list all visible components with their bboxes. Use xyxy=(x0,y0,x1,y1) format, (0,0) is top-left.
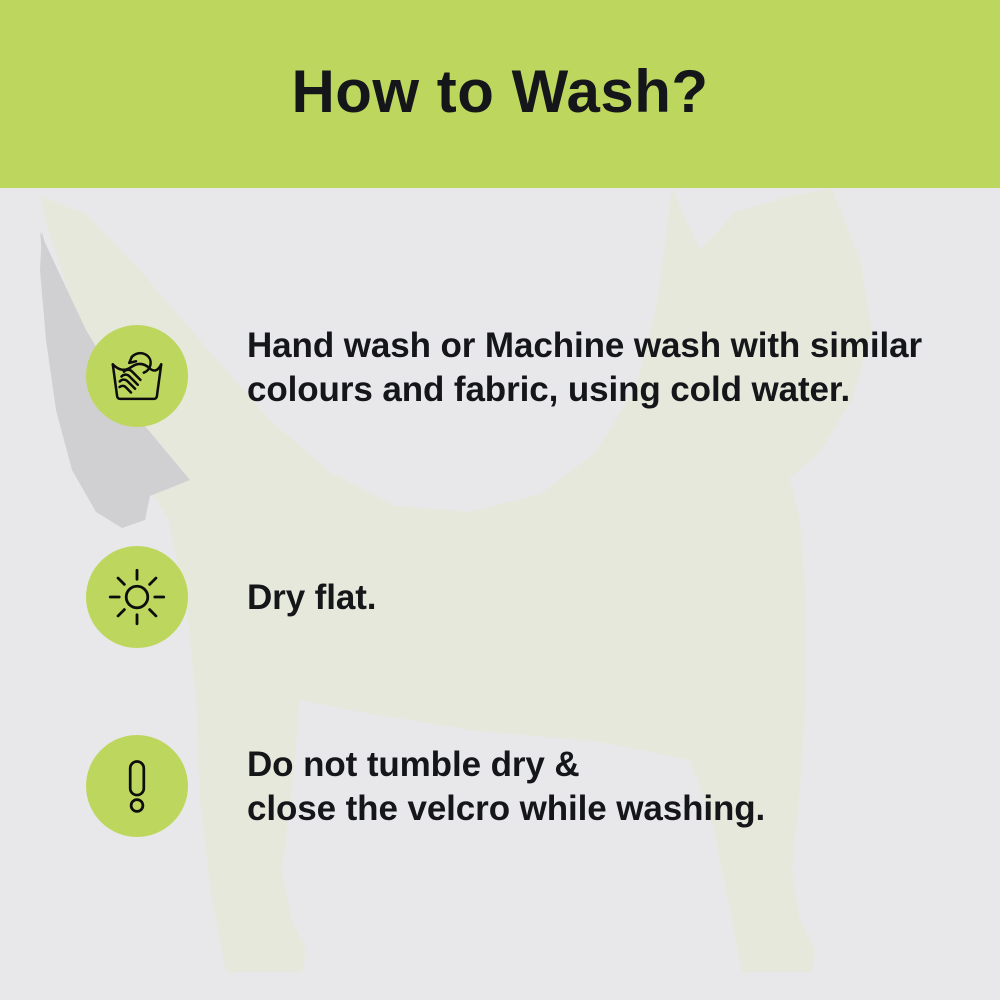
hand-wash-basin-icon xyxy=(106,345,168,407)
list-item: Dry flat. xyxy=(86,546,376,648)
page-title: How to Wash? xyxy=(291,62,708,126)
list-item-label: Hand wash or Machine wash with similar c… xyxy=(247,324,937,412)
instructions-list: Hand wash or Machine wash with similar c… xyxy=(0,188,1000,1000)
sun-icon-badge xyxy=(86,546,188,648)
sun-icon xyxy=(107,567,167,627)
hand-wash-basin-icon-badge xyxy=(86,325,188,427)
header-band: How to Wash? xyxy=(0,0,1000,188)
care-instructions-card: How to Wash? xyxy=(0,0,1000,1000)
list-item: Do not tumble dry & close the velcro whi… xyxy=(86,735,765,837)
list-item-label: Do not tumble dry & close the velcro whi… xyxy=(247,743,765,831)
exclamation-mark-icon xyxy=(108,757,166,815)
exclamation-mark-icon-badge xyxy=(86,735,188,837)
list-item-label: Dry flat. xyxy=(247,576,376,620)
list-item: Hand wash or Machine wash with similar c… xyxy=(86,325,937,427)
